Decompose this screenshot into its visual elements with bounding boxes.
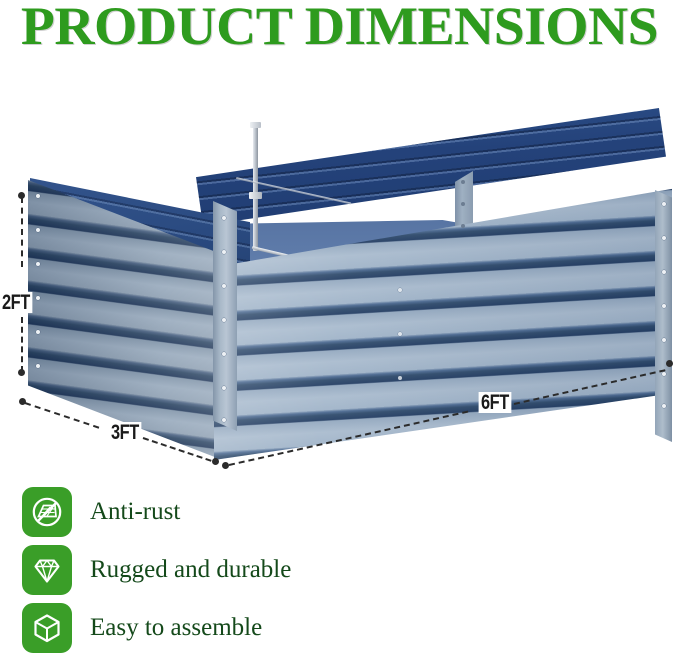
rivet (36, 194, 40, 198)
dimension-label-height: 2FT (0, 292, 32, 313)
feature-item-rugged-durable: Rugged and durable (22, 544, 291, 596)
rivet (222, 250, 226, 254)
rivet (36, 296, 40, 300)
support-rod-clip (249, 192, 262, 199)
rivet (662, 236, 666, 240)
dimension-endpoint-dot (666, 360, 673, 367)
rivet (662, 270, 666, 274)
page-title: PRODUCT DIMENSIONS (0, 0, 679, 54)
feature-item-anti-rust: Anti-rust (22, 486, 180, 538)
rivet (662, 404, 666, 408)
diamond-icon (22, 545, 72, 595)
feature-list: Anti-rust Rugged and durable Easy to ass… (0, 482, 679, 653)
dimension-endpoint-dot (212, 458, 219, 465)
dimension-line-height (21, 197, 23, 267)
rivet (222, 352, 226, 356)
rivet (398, 288, 402, 292)
rivet (461, 224, 465, 228)
rivet (398, 332, 402, 336)
rivet (36, 330, 40, 334)
rivet (222, 386, 226, 390)
rivet (222, 418, 226, 422)
rivet (398, 376, 402, 380)
dimension-endpoint-dot (18, 369, 25, 376)
rivet (222, 216, 226, 220)
feature-label: Rugged and durable (90, 556, 291, 584)
anti-rust-icon (22, 487, 72, 537)
corner-post-front-left (213, 201, 237, 431)
rivet (36, 364, 40, 368)
feature-label: Anti-rust (90, 498, 180, 526)
dimension-label-length: 6FT (479, 392, 512, 413)
rivet (461, 202, 465, 206)
raised-garden-bed-illustration (0, 70, 679, 480)
rivet (222, 284, 226, 288)
rivet (461, 180, 465, 184)
rivet (222, 318, 226, 322)
dimension-line-height-lower (21, 317, 23, 372)
rivet (36, 228, 40, 232)
support-rod-cap (250, 122, 261, 128)
rivet (662, 202, 666, 206)
feature-label: Easy to assemble (90, 614, 262, 642)
rivet (36, 262, 40, 266)
rivet (662, 304, 666, 308)
product-illustration: 2FT 3FT 6FT (0, 70, 679, 480)
support-rod-vertical (253, 125, 258, 251)
cube-icon (22, 603, 72, 653)
feature-item-easy-assemble: Easy to assemble (22, 602, 262, 654)
dimension-label-width: 3FT (109, 422, 142, 443)
rivet (662, 338, 666, 342)
rivet (662, 372, 666, 376)
